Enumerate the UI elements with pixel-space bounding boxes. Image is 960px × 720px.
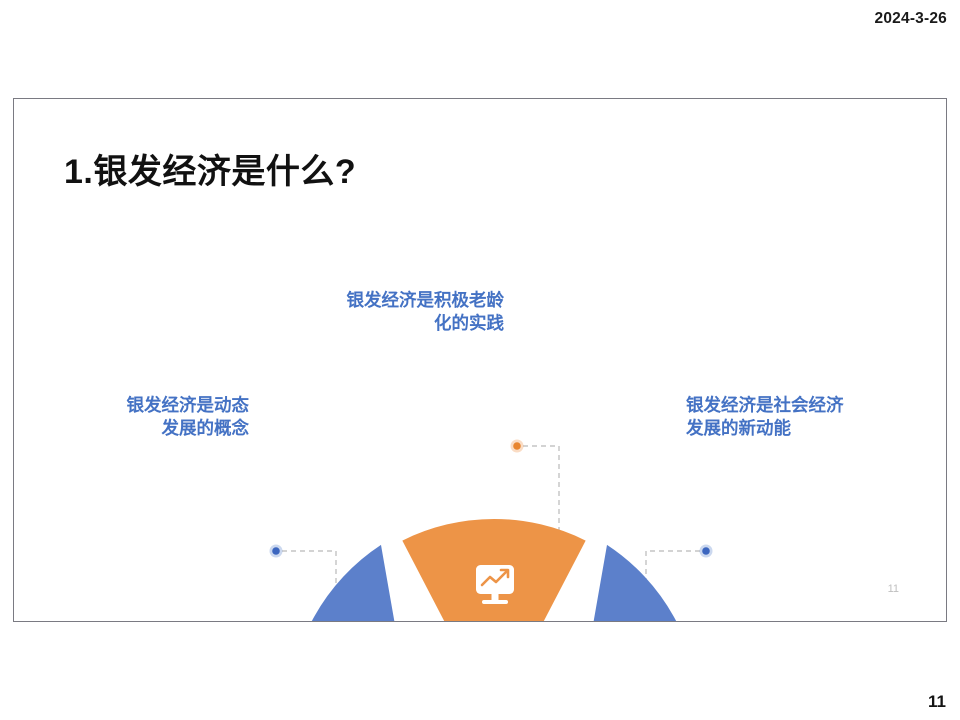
semicircle-diagram xyxy=(14,99,947,622)
connector-top-dot xyxy=(513,442,521,450)
connector-right-dot xyxy=(702,547,710,555)
connector-left-dot xyxy=(272,547,280,555)
callout-label-left: 银发经济是动态 发展的概念 xyxy=(69,394,249,440)
connector-top xyxy=(511,440,560,532)
connector-top-line xyxy=(523,446,559,531)
callout-label-top: 银发经济是积极老龄 化的实践 xyxy=(272,289,504,335)
slide-canvas: 1.银发经济是什么? xyxy=(13,98,947,622)
callout-label-right: 银发经济是社会经济 发展的新动能 xyxy=(686,394,916,440)
slide-number: 11 xyxy=(888,583,899,595)
page-number: 11 xyxy=(928,692,946,712)
diagram-svg xyxy=(14,99,947,622)
document-date: 2024-3-26 xyxy=(875,10,947,28)
